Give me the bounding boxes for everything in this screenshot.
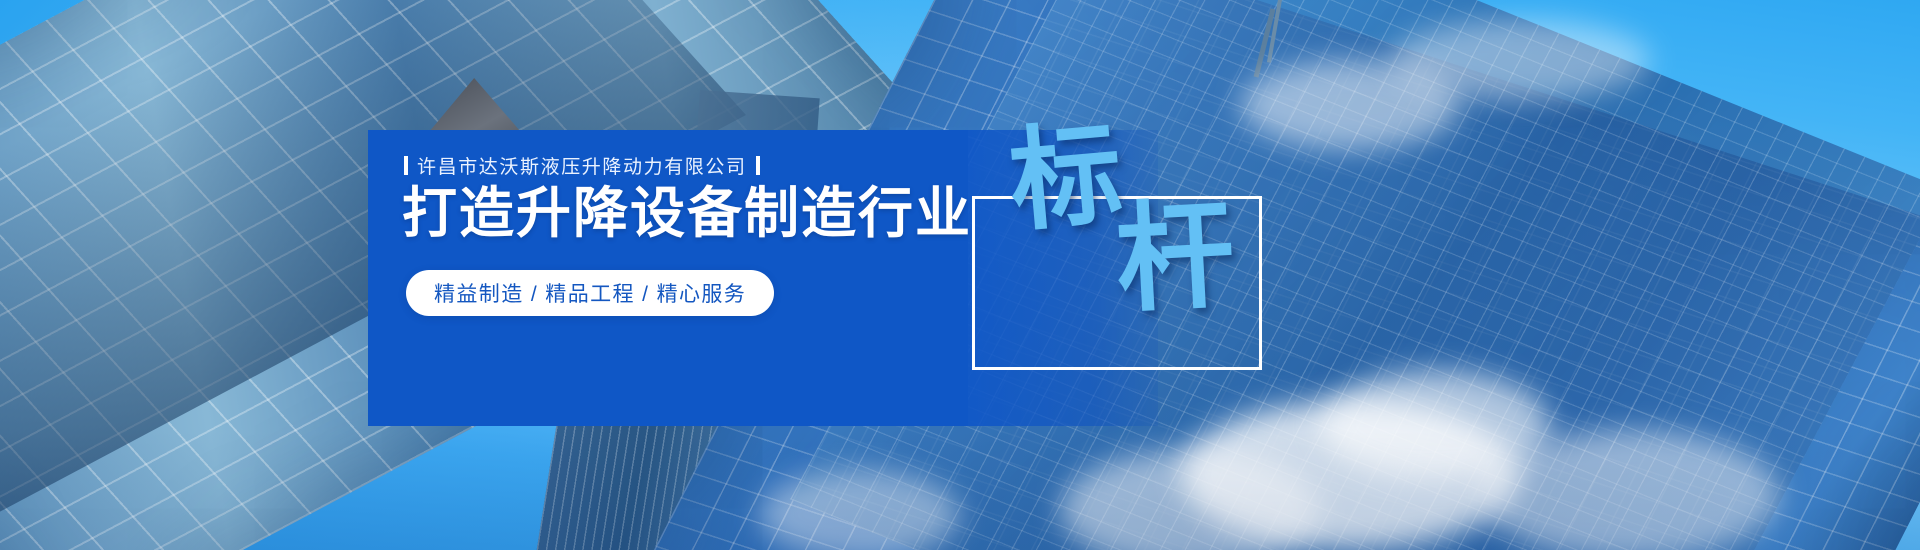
tagline-text: 精益制造 / 精品工程 / 精心服务 bbox=[434, 278, 746, 308]
tagline-pill: 精益制造 / 精品工程 / 精心服务 bbox=[406, 270, 774, 316]
cloud bbox=[760, 470, 960, 550]
company-name-line: 许昌市达沃斯液压升降动力有限公司 bbox=[404, 152, 760, 179]
company-name: 许昌市达沃斯液压升降动力有限公司 bbox=[417, 152, 747, 179]
vertical-bar-left-icon bbox=[404, 156, 408, 175]
headline-title: 打造升降设备制造行业 bbox=[402, 186, 972, 241]
hero-banner: 标 杆 许昌市达沃斯液压升降动力有限公司 打造升降设备制造行业 精益制造 / 精… bbox=[0, 0, 1920, 550]
banner-text-block: 许昌市达沃斯液压升降动力有限公司 打造升降设备制造行业 精益制造 / 精品工程 … bbox=[404, 130, 1164, 426]
cloud bbox=[1390, 20, 1650, 100]
cloud bbox=[1480, 430, 1780, 550]
vertical-bar-right-icon bbox=[756, 156, 760, 175]
